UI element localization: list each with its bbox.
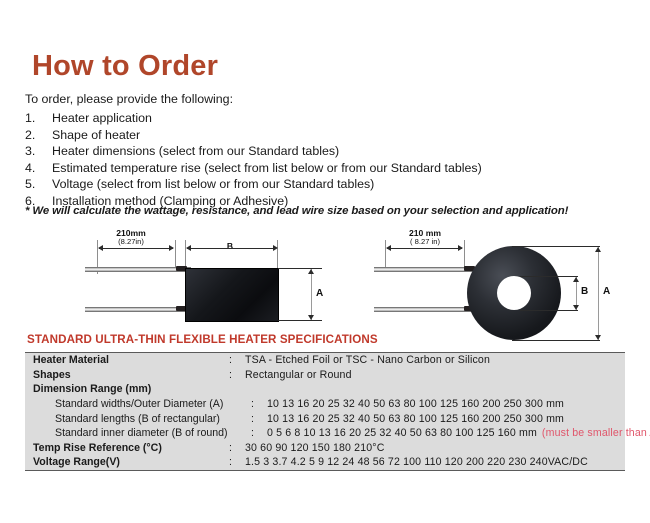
heater-diagrams: 210mm (8.27in) B A (0, 228, 650, 346)
row-value: 10 13 16 20 25 32 40 50 63 80 100 125 16… (267, 413, 625, 425)
round-lead-wire-top (374, 267, 478, 272)
list-item: 4. Estimated temperature rise (select fr… (25, 160, 625, 177)
round-b-arrow-down (573, 305, 579, 310)
round-heater-hole (497, 276, 531, 310)
round-a-arrow-down (595, 335, 601, 340)
rect-a-arrow-down (308, 315, 314, 320)
row-value: TSA - Etched Foil or TSC - Nano Carbon o… (245, 354, 625, 366)
row-label: Voltage Range(V) (33, 456, 229, 468)
row-value: 0 5 6 8 10 13 16 20 25 32 40 50 63 80 10… (267, 427, 650, 439)
calculation-note: * We will calculate the wattage, resista… (25, 205, 568, 217)
round-lead-arrow-right (458, 245, 463, 251)
list-item-label: Voltage (select from list below or from … (52, 177, 625, 191)
round-inner-label: B (581, 286, 588, 297)
spec-table: Heater Material : TSA - Etched Foil or T… (25, 352, 625, 471)
round-a-ext-top (512, 246, 600, 247)
rect-height-label: A (316, 288, 323, 299)
round-outer-label: A (603, 286, 610, 297)
row-colon: : (229, 442, 245, 454)
list-item-number: 1. (25, 111, 52, 125)
row-colon: : (251, 427, 267, 439)
rect-a-ext-top (278, 268, 322, 269)
round-a-ext-bottom (512, 340, 600, 341)
rect-b-arrow-left (186, 245, 191, 251)
rect-lead-arrow-left (98, 245, 103, 251)
row-colon: : (251, 413, 267, 425)
order-steps-list: 1. Heater application 2. Shape of heater… (25, 110, 625, 209)
row-value: 1.5 3 3.7 4.2 5 9 12 24 48 56 72 100 110… (245, 456, 625, 468)
row-label: Heater Material (33, 354, 229, 366)
list-item-label: Heater dimensions (select from our Stand… (52, 144, 625, 158)
round-a-dim-line (598, 247, 599, 340)
list-item-number: 4. (25, 161, 52, 175)
round-lead-wire-bottom (374, 307, 478, 312)
round-a-arrow-up (595, 247, 601, 252)
intro-text: To order, please provide the following: (25, 93, 233, 106)
table-row: Shapes : Rectangular or Round (25, 368, 625, 383)
row-colon: : (229, 354, 245, 366)
round-lead-length-label: 210 mm ( 8.27 in) (383, 228, 467, 246)
rect-heater-body (185, 268, 279, 322)
row-colon: : (251, 398, 267, 410)
row-value-note: (must be smaller than A) (542, 427, 650, 439)
row-value: 10 13 16 20 25 32 40 50 63 80 100 125 16… (267, 398, 625, 410)
rect-lead-dim-line (99, 248, 173, 249)
rect-width-label: B (210, 241, 250, 251)
rect-a-dim-line (311, 269, 312, 320)
row-label: Standard widths/Outer Diameter (A) (33, 398, 251, 410)
list-item-label: Heater application (52, 111, 625, 125)
row-label: Standard lengths (B of rectangular) (33, 413, 251, 425)
list-item-number: 5. (25, 177, 52, 191)
spec-table-title: STANDARD ULTRA-THIN FLEXIBLE HEATER SPEC… (27, 333, 378, 346)
round-lead-arrow-left (386, 245, 391, 251)
list-item-number: 2. (25, 128, 52, 142)
row-label: Temp Rise Reference (°C) (33, 442, 229, 454)
rect-b-arrow-right (273, 245, 278, 251)
page-title: How to Order (32, 52, 218, 81)
row-label: Shapes (33, 369, 229, 381)
row-colon: : (229, 369, 245, 381)
row-value: 30 60 90 120 150 180 210°C (245, 442, 625, 454)
list-item: 2. Shape of heater (25, 127, 625, 144)
list-item: 5. Voltage (select from list below or fr… (25, 176, 625, 193)
rect-a-arrow-up (308, 269, 314, 274)
table-row: Temp Rise Reference (°C) : 30 60 90 120 … (25, 441, 625, 456)
list-item-label: Estimated temperature rise (select from … (52, 161, 625, 175)
rect-lead-length-label: 210mm (8.27in) (92, 228, 170, 246)
table-row: Voltage Range(V) : 1.5 3 3.7 4.2 5 9 12 … (25, 455, 625, 470)
rect-lead-arrow-right (169, 245, 174, 251)
round-b-ext-bottom (520, 310, 578, 311)
table-row: Dimension Range (mm) (25, 382, 625, 397)
list-item: 3. Heater dimensions (select from our St… (25, 143, 625, 160)
list-item-label: Shape of heater (52, 128, 625, 142)
table-row: Standard inner diameter (B of round) : 0… (25, 426, 625, 441)
row-label: Dimension Range (mm) (33, 383, 229, 395)
table-row: Standard lengths (B of rectangular) : 10… (25, 411, 625, 426)
row-label: Standard inner diameter (B of round) (33, 427, 251, 439)
row-colon: : (229, 456, 245, 468)
rect-a-ext-bottom (278, 320, 322, 321)
rect-b-dim-line (187, 248, 275, 249)
round-b-arrow-up (573, 277, 579, 282)
round-lead-dim-line (387, 248, 462, 249)
row-value-text: 0 5 6 8 10 13 16 20 25 32 40 50 63 80 10… (267, 427, 537, 439)
table-row: Heater Material : TSA - Etched Foil or T… (25, 353, 625, 368)
table-row: Standard widths/Outer Diameter (A) : 10 … (25, 397, 625, 412)
row-value: Rectangular or Round (245, 369, 625, 381)
list-item: 1. Heater application (25, 110, 625, 127)
round-b-ext-top (520, 276, 578, 277)
list-item-number: 3. (25, 144, 52, 158)
